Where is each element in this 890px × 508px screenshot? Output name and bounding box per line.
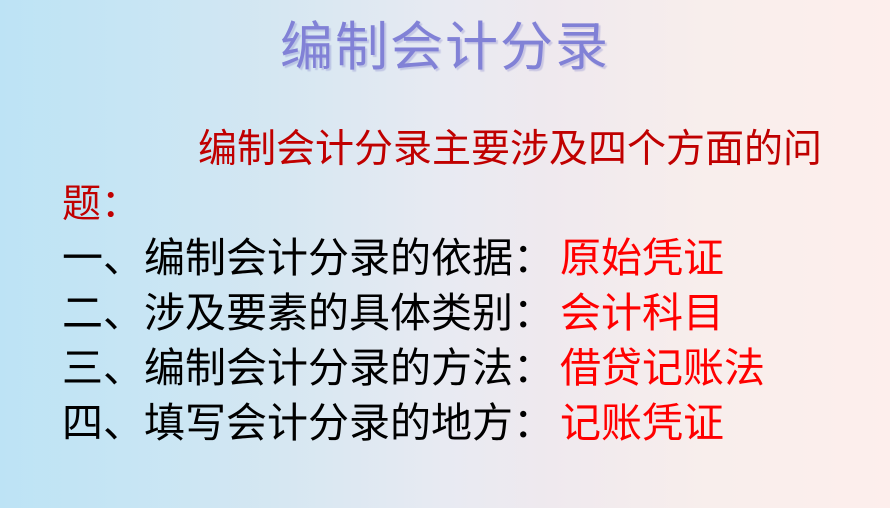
list-item-label: 一、编制会计分录的依据： (62, 234, 554, 282)
list-item-answer: 记账凭证 (560, 399, 724, 447)
list-item-answer: 原始凭证 (560, 234, 724, 282)
list-item: 一、编制会计分录的依据：原始凭证 (62, 231, 882, 286)
numbered-list: 一、编制会计分录的依据：原始凭证 二、涉及要素的具体类别：会计科目 三、编制会计… (62, 231, 882, 451)
list-item: 四、填写会计分录的地方：记账凭证 (62, 396, 882, 451)
presentation-slide: 编制会计分录 编制会计分录主要涉及四个方面的问题： 一、编制会计分录的依据：原始… (0, 0, 890, 508)
slide-title: 编制会计分录 (0, 18, 890, 79)
list-item: 三、编制会计分录的方法：借贷记账法 (62, 341, 882, 396)
list-item-label: 二、涉及要素的具体类别： (62, 289, 554, 337)
list-item: 二、涉及要素的具体类别：会计科目 (62, 286, 882, 341)
slide-subtitle: 编制会计分录主要涉及四个方面的问题： (62, 122, 862, 233)
list-item-label: 三、编制会计分录的方法： (62, 344, 554, 392)
list-item-label: 四、填写会计分录的地方： (62, 399, 554, 447)
list-item-answer: 会计科目 (560, 289, 724, 337)
list-item-answer: 借贷记账法 (560, 344, 765, 392)
